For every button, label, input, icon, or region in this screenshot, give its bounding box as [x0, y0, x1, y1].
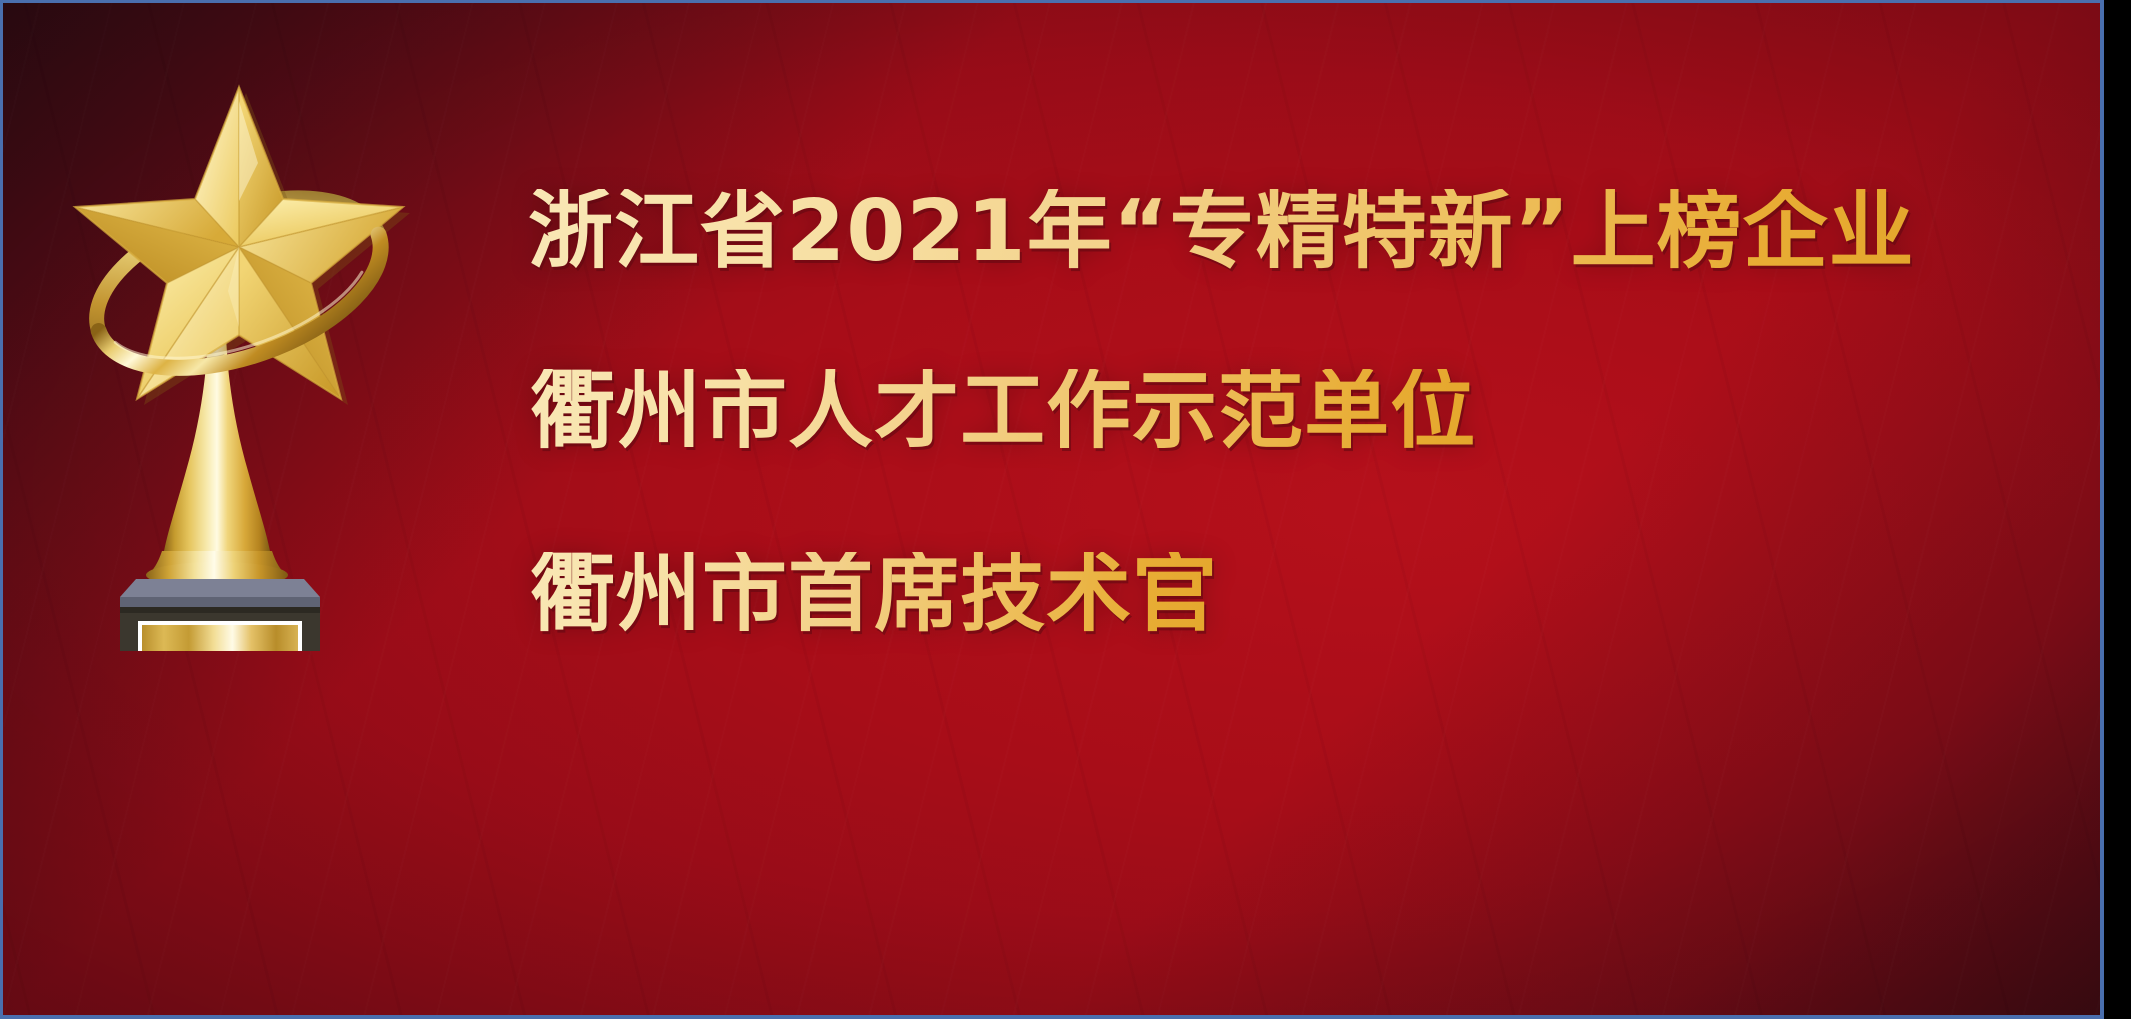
award-line-2: 衢州市人才工作示范单位 [530, 369, 1476, 454]
banner-frame-border: 浙江省2021年“专精特新”上榜企业 衢州市人才工作示范单位 衢州市首席技术官 [0, 0, 2104, 1019]
award-banner: 浙江省2021年“专精特新”上榜企业 衢州市人才工作示范单位 衢州市首席技术官 [0, 0, 2131, 1019]
award-text-block: 浙江省2021年“专精特新”上榜企业 衢州市人才工作示范单位 衢州市首席技术官 [528, 189, 2048, 719]
gold-star-trophy-icon [58, 51, 418, 651]
award-line-3: 衢州市首席技术官 [530, 552, 1218, 637]
award-line-1: 浙江省2021年“专精特新”上榜企业 [528, 189, 1915, 274]
right-black-gutter [2104, 0, 2131, 1019]
trophy-base [120, 579, 320, 651]
